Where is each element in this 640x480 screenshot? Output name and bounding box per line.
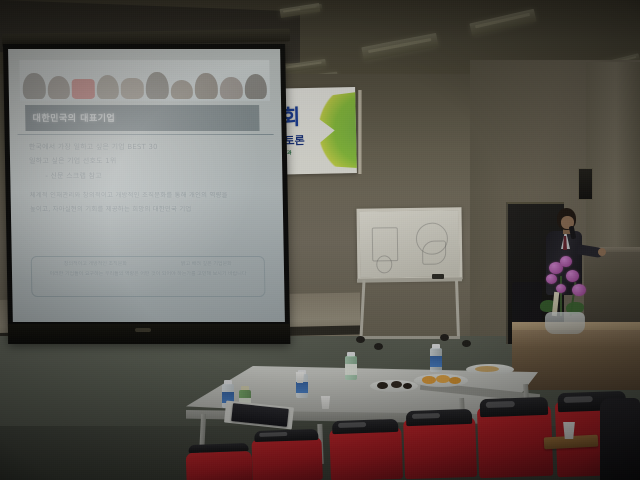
food-item [475, 366, 499, 372]
slide-line-2: 일하고 싶은 기업 선호도 1위 [29, 156, 269, 166]
slide-photo-strip [19, 60, 270, 101]
projection-screen: 대한민국의 대표기업 한국에서 가장 일하고 싶은 기업 BEST 30 일하고… [3, 44, 290, 344]
bottle-label [430, 356, 442, 367]
plate-of-orange-slices [414, 374, 468, 387]
photo-blob [170, 80, 193, 99]
whiteboard-drawing [376, 255, 392, 273]
stage-platform [512, 330, 640, 390]
photo-blob [244, 74, 267, 99]
whiteboard-caster [440, 334, 449, 341]
slide-title: 대한민국의 대표기업 [32, 111, 115, 124]
screen-weight-bar [8, 324, 290, 344]
whiteboard-caster [356, 336, 365, 343]
food-item [377, 382, 388, 389]
photo-blob [195, 73, 218, 99]
slide-line-5: 높이고, 자아실현의 기회를 제공하는 희망의 대한민국 기업 [30, 204, 270, 213]
food-item [422, 376, 436, 384]
auditorium-seat [477, 397, 554, 480]
flower-basket [545, 312, 585, 334]
food-item [449, 377, 461, 384]
orchid-flower [572, 284, 586, 296]
whiteboard-eraser [432, 274, 444, 279]
conference-hall-photo: 수회 전략토론 환경공학과 [0, 0, 640, 480]
callout-right-text: 밝고 배려 깊은 기업문화 [181, 260, 232, 267]
seat-highlight [563, 395, 593, 402]
photo-blob [22, 73, 45, 99]
speaker-hand [598, 248, 606, 256]
flower-stem [560, 276, 562, 316]
whiteboard-caster [462, 340, 471, 347]
presentation-slide: 대한민국의 대표기업 한국에서 가장 일하고 싶은 기업 BEST 30 일하고… [8, 49, 285, 322]
food-item [403, 383, 412, 389]
banner-swoosh-graphic [293, 91, 357, 171]
seat-back [251, 437, 322, 480]
slide-divider [18, 134, 274, 135]
slide-line-1: 한국에서 가장 일하고 싶은 기업 BEST 30 [29, 142, 269, 152]
seated-person-silhouette [600, 398, 640, 480]
orchid-flower [546, 274, 557, 284]
photo-blob [146, 72, 169, 99]
plate-of-cookies [466, 364, 514, 375]
whiteboard-caster [374, 343, 383, 350]
callout-bottom-text: 이러한 기업들이 요구하는 우리들의 역량은 어떤 것이 되어야 하는가를 고민… [37, 270, 259, 277]
orchid-flower [566, 270, 579, 282]
photo-blob [96, 75, 119, 99]
seat-highlight [486, 401, 516, 408]
photo-blob [121, 78, 144, 99]
slide-title-bar: 대한민국의 대표기업 [25, 105, 259, 131]
slide-line-4: 체계적 인재관리와 창의적이고 개방적인 조직문화를 통해 개인의 역량을 [30, 190, 270, 199]
orchid-flower [560, 256, 572, 267]
doorway-object [512, 282, 542, 326]
food-item [391, 381, 402, 388]
bottle-label [345, 364, 357, 375]
auditorium-seat [185, 443, 252, 480]
bottle-label [296, 382, 308, 393]
banner-pole [358, 90, 362, 174]
seat-back [329, 427, 403, 480]
auditorium-seat [251, 429, 323, 480]
photo-blob [47, 76, 70, 99]
callout-left-text: 창의적이고 개방적인 조직문화 [64, 260, 127, 267]
whiteboard-surface [360, 210, 460, 277]
seat-back [186, 451, 253, 480]
seat-back [403, 417, 477, 480]
seat-highlight [412, 413, 441, 419]
photo-blob [72, 79, 95, 99]
auditorium-seat [329, 419, 403, 480]
food-item [436, 375, 450, 383]
slide-callout-box: 창의적이고 개방적인 조직문화 밝고 배려 깊은 기업문화 이러한 기업들이 요… [31, 256, 266, 297]
slide-body: 한국에서 가장 일하고 싶은 기업 BEST 30 일하고 싶은 기업 선호도 … [29, 142, 270, 246]
wall-speaker-icon [578, 168, 593, 200]
photo-blob [219, 77, 242, 99]
whiteboard-drawing [422, 240, 446, 264]
whiteboard [357, 207, 463, 280]
screen-surface: 대한민국의 대표기업 한국에서 가장 일하고 싶은 기업 BEST 30 일하고… [8, 49, 285, 322]
slide-line-3: - 신문 스크랩 참고 [29, 171, 269, 181]
plate-of-dark-snacks [370, 380, 418, 392]
auditorium-seat [403, 409, 477, 480]
